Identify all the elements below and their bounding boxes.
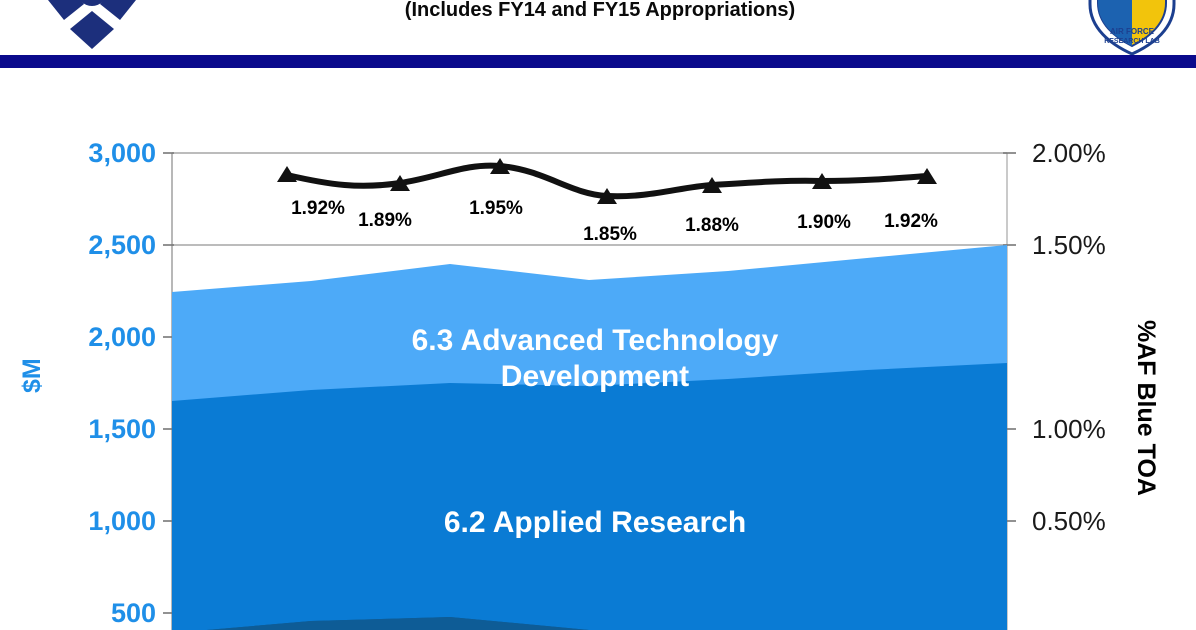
area-6-2-applied-research <box>172 363 1007 630</box>
pct-point-label: 1.88% <box>685 215 739 237</box>
right-axis-tick: 1.50% <box>1032 230 1106 260</box>
funding-area-chart: 3,000 2,500 2,000 1,500 1,000 500 $M 2.0… <box>0 68 1196 630</box>
left-axis-tick: 1,000 <box>88 506 156 536</box>
right-axis-tick: 1.00% <box>1032 414 1106 444</box>
right-axis-tick: 0.50% <box>1032 506 1106 536</box>
left-axis-tick: 2,500 <box>88 230 156 260</box>
left-axis-tick: 2,000 <box>88 322 156 352</box>
left-axis-tick: 500 <box>111 598 156 628</box>
title-block: AFRL S&T Funding (Includes FY14 and FY15… <box>230 0 970 22</box>
pct-point-label: 1.85% <box>583 224 637 246</box>
pct-point-label: 1.89% <box>358 210 412 232</box>
series-label-6-2: 6.2 Applied Research <box>310 505 880 541</box>
right-axis-tick: 2.00% <box>1032 138 1106 168</box>
dod-diamond-logo <box>38 0 146 54</box>
left-axis-title: $M <box>18 358 47 393</box>
header-divider-rule <box>0 55 1196 68</box>
pct-point-label: 1.92% <box>291 198 345 220</box>
pct-point-label: 1.90% <box>797 212 851 234</box>
pct-point-label: 1.92% <box>884 211 938 233</box>
svg-text:RESEARCH LAB: RESEARCH LAB <box>1104 38 1160 45</box>
afrl-seal-logo: AIR FORCE RESEARCH LAB <box>1076 0 1188 56</box>
slide-header: AFRL S&T Funding (Includes FY14 and FY15… <box>0 0 1196 55</box>
left-axis: 3,000 2,500 2,000 1,500 1,000 500 <box>58 68 156 630</box>
series-label-6-3: 6.3 Advanced Technology Development <box>330 323 860 395</box>
left-axis-tick: 3,000 <box>88 138 156 168</box>
pct-point-label: 1.95% <box>469 198 523 220</box>
left-axis-tick: 1,500 <box>88 414 156 444</box>
right-axis-title: %AF Blue TOA <box>1131 320 1160 496</box>
svg-text:AIR FORCE: AIR FORCE <box>1110 27 1155 36</box>
page-subtitle: (Includes FY14 and FY15 Appropriations) <box>230 0 970 22</box>
